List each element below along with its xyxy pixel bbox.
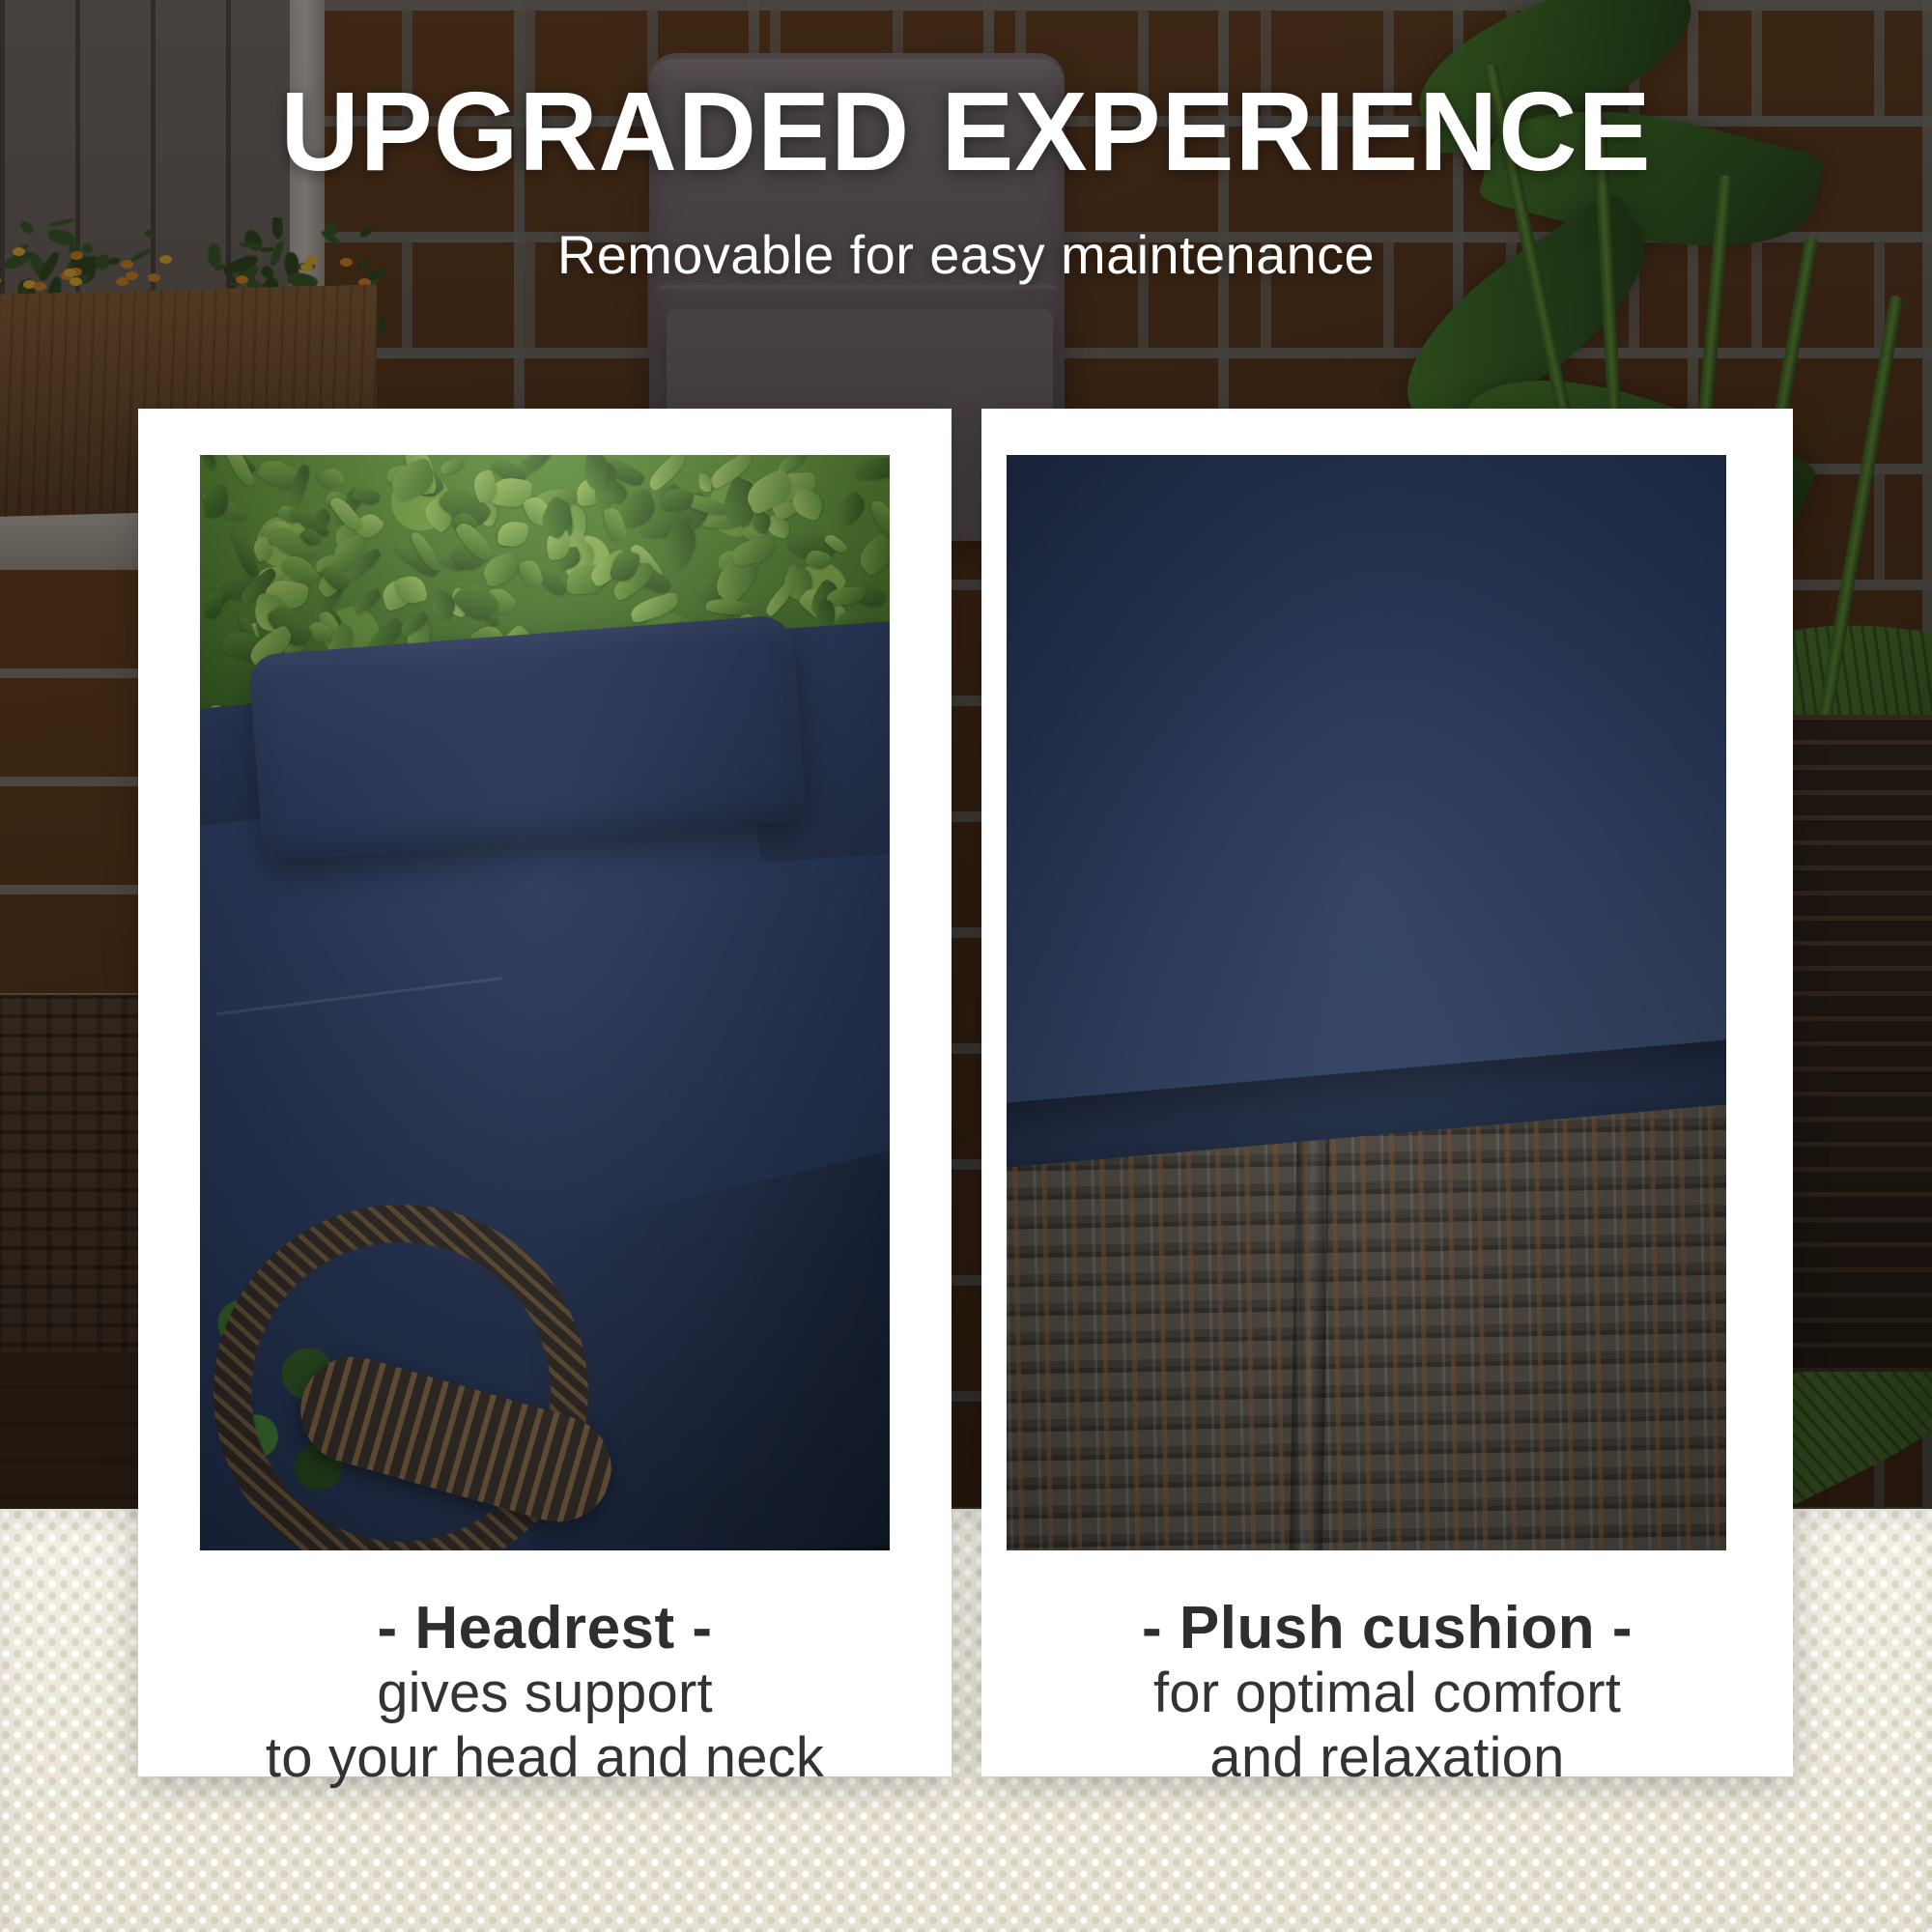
- feature-card-plush-cushion: - Plush cushion - for optimal comfort an…: [981, 409, 1793, 1776]
- caption-plush-cushion: - Plush cushion - for optimal comfort an…: [981, 1595, 1793, 1790]
- photo-vignette: [1007, 455, 1726, 1550]
- plush-cushion-photo: [1007, 455, 1726, 1550]
- caption-line-2: to your head and neck: [138, 1726, 952, 1790]
- caption-title: - Plush cushion -: [981, 1595, 1793, 1662]
- caption-line-1: gives support: [138, 1662, 952, 1725]
- caption-headrest: - Headrest - gives support to your head …: [138, 1595, 952, 1790]
- photo-vignette: [200, 455, 890, 1550]
- caption-line-2: and relaxation: [981, 1726, 1793, 1790]
- page-subtitle: Removable for easy maintenance: [0, 228, 1932, 282]
- product-feature-graphic: UPGRADED EXPERIENCE Removable for easy m…: [0, 0, 1932, 1932]
- headrest-photo: [200, 455, 890, 1550]
- caption-line-1: for optimal comfort: [981, 1662, 1793, 1725]
- page-title: UPGRADED EXPERIENCE: [29, 75, 1903, 187]
- caption-title: - Headrest -: [138, 1595, 952, 1662]
- feature-card-headrest: - Headrest - gives support to your head …: [138, 409, 952, 1776]
